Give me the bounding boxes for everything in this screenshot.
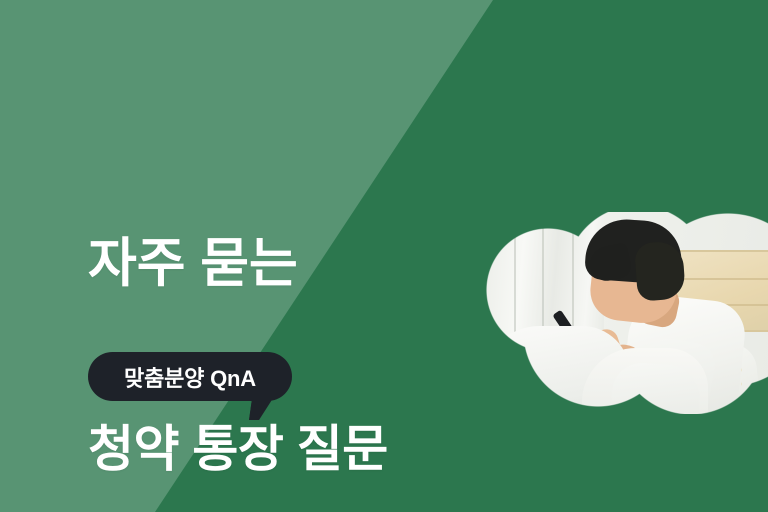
badge-label: 맞춤분양 QnA (124, 361, 256, 393)
photo-blob (486, 212, 768, 414)
photo-image (486, 212, 768, 414)
badge-speech-bubble[interactable]: 맞춤분양 QnA (88, 352, 292, 401)
promo-banner: 자주 묻는 청약 통장 질문 TOP 4 맞춤분양 QnA (0, 0, 768, 512)
headline-line-1: 자주 묻는 (88, 232, 388, 297)
badge-body[interactable]: 맞춤분양 QnA (88, 352, 292, 401)
headline-line-2: 청약 통장 질문 (88, 419, 388, 480)
headline: 자주 묻는 청약 통장 질문 TOP 4 (88, 110, 388, 512)
